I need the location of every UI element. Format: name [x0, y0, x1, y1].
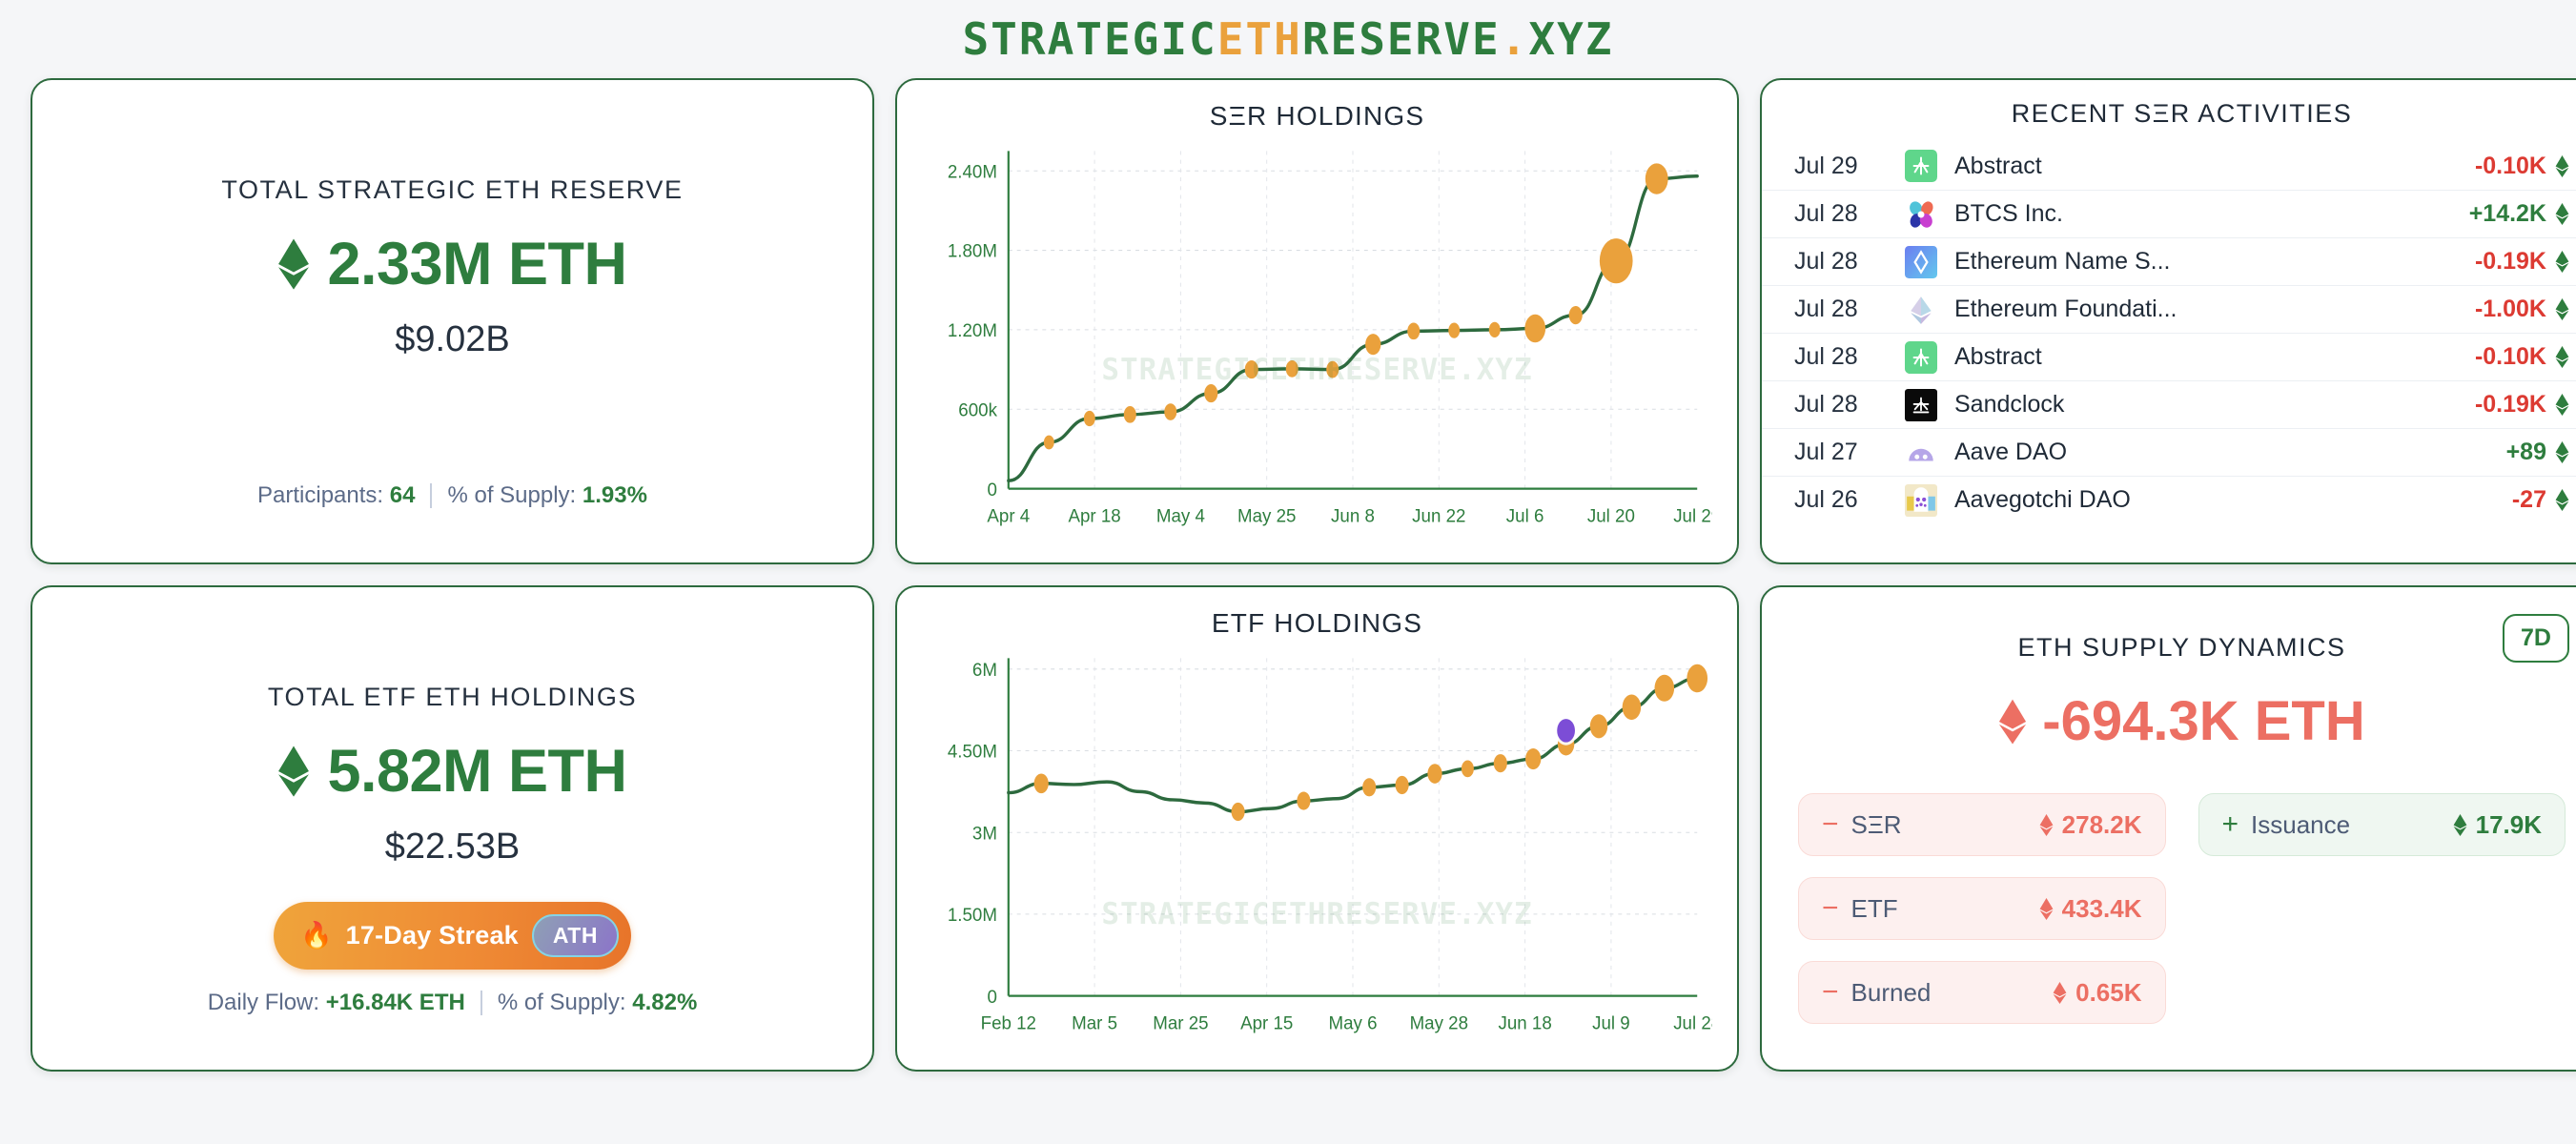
etf-value-row: 5.82M ETH: [277, 737, 626, 806]
svg-text:Apr 4: Apr 4: [987, 506, 1030, 526]
reserve-footer: Participants: 64 % of Supply: 1.93%: [32, 482, 872, 509]
recent-ser-activities-card: RECENT SΞR ACTIVITIES Jul 29Abstract-0.1…: [1760, 78, 2576, 564]
etf-chart-title: ETF HOLDINGS: [922, 608, 1712, 639]
svg-text:1.50M: 1.50M: [948, 906, 997, 926]
activity-row[interactable]: Jul 29Abstract-0.10K: [1762, 142, 2576, 190]
supply-chips: −SΞR278.2K+Issuance17.9K−ETF433.4K−Burne…: [1798, 793, 2566, 1024]
chip-placeholder: [2198, 961, 2566, 1024]
footer-divider: [480, 991, 482, 1015]
chip-value: 0.65K: [2053, 978, 2141, 1008]
activity-amount: -0.10K: [2475, 343, 2569, 371]
ethereum-foundation-icon: [1905, 294, 1937, 326]
activity-amount: +14.2K: [2469, 200, 2569, 228]
activity-entity-name: Abstract: [1954, 153, 2475, 180]
streak-wrapper: 🔥 17-Day Streak ATH: [32, 902, 872, 970]
activity-entity-name: BTCS Inc.: [1954, 200, 2469, 228]
aavegotchi-icon: [1905, 484, 1937, 517]
reserve-value-row: 2.33M ETH: [277, 230, 626, 298]
activity-date: Jul 29: [1794, 153, 1905, 180]
svg-text:Apr 18: Apr 18: [1068, 506, 1120, 526]
activity-amount: +89: [2506, 439, 2569, 466]
etf-holdings-plot[interactable]: 01.50M3M4.50M6MFeb 12Mar 5Mar 25Apr 15Ma…: [922, 643, 1712, 1052]
logo-xyz: XYZ: [1528, 13, 1613, 65]
reserve-eth-value: 2.33M ETH: [327, 230, 626, 298]
daily-flow-value: +16.84K ETH: [326, 990, 465, 1015]
svg-text:1.20M: 1.20M: [948, 321, 997, 341]
chip-label: −ETF: [1822, 892, 1898, 925]
activity-date: Jul 27: [1794, 439, 1905, 466]
etf-footer: Daily Flow: +16.84K ETH % of Supply: 4.8…: [32, 990, 872, 1016]
svg-text:600k: 600k: [958, 400, 997, 420]
activity-entity-name: Ethereum Foundati...: [1954, 296, 2475, 323]
activity-amount: -27: [2512, 486, 2569, 514]
abstract-icon: [1905, 150, 1937, 182]
activity-row[interactable]: Jul 26Aavegotchi DAO-27: [1762, 476, 2576, 523]
activity-row[interactable]: Jul 28BTCS Inc.+14.2K: [1762, 190, 2576, 237]
activity-entity-name: Abstract: [1954, 343, 2475, 371]
activity-amount: -0.10K: [2475, 153, 2569, 180]
activity-row[interactable]: Jul 28Abstract-0.10K: [1762, 333, 2576, 380]
total-etf-eth-holdings-card: TOTAL ETF ETH HOLDINGS 5.82M ETH $22.53B…: [31, 585, 874, 1072]
activity-row[interactable]: Jul 28Ethereum Name S...-0.19K: [1762, 237, 2576, 285]
etf-card-title: TOTAL ETF ETH HOLDINGS: [268, 683, 637, 712]
logo-eth: ETH: [1217, 13, 1302, 65]
chip-sign-icon: −: [1822, 976, 1839, 1009]
svg-text:6M: 6M: [972, 661, 997, 681]
site-header: STRATEGICETHRESERVE.XYZ: [0, 0, 2576, 78]
svg-text:Jul 20: Jul 20: [1587, 506, 1635, 526]
etf-supply-label: % of Supply:: [498, 990, 626, 1015]
reserve-supply-value: 1.93%: [583, 482, 647, 508]
activity-entity-name: Sandclock: [1954, 391, 2475, 419]
svg-text:4.50M: 4.50M: [948, 742, 997, 762]
ser-holdings-chart-card: SΞR HOLDINGS 0600k1.20M1.80M2.40MApr 4Ap…: [895, 78, 1739, 564]
etf-supply-value: 4.82%: [632, 990, 697, 1015]
reserve-supply-label: % of Supply:: [447, 482, 576, 508]
reserve-card-title: TOTAL STRATEGIC ETH RESERVE: [221, 175, 683, 205]
svg-text:Jun 22: Jun 22: [1412, 506, 1465, 526]
chip-value: 433.4K: [2039, 894, 2142, 924]
svg-text:2.40M: 2.40M: [948, 162, 997, 182]
activity-date: Jul 28: [1794, 343, 1905, 371]
etf-usd-value: $22.53B: [385, 827, 521, 868]
svg-text:0: 0: [988, 987, 997, 1007]
activities-title: RECENT SΞR ACTIVITIES: [1762, 99, 2576, 129]
ens-icon: [1905, 246, 1937, 278]
activity-amount: -1.00K: [2475, 296, 2569, 323]
activity-row[interactable]: Jul 28Ethereum Foundati...-1.00K: [1762, 285, 2576, 333]
net-supply-row: -694.3K ETH: [1798, 689, 2566, 753]
supply-chip-sr[interactable]: −SΞR278.2K: [1798, 793, 2166, 856]
daily-flow-stat: Daily Flow: +16.84K ETH: [208, 990, 465, 1016]
activity-amount: -0.19K: [2475, 248, 2569, 276]
ethereum-diamond-icon: [277, 238, 310, 290]
svg-text:Jul 28: Jul 28: [1673, 1013, 1712, 1033]
activity-entity-name: Ethereum Name S...: [1954, 248, 2475, 276]
svg-text:3M: 3M: [972, 824, 997, 844]
activity-date: Jul 28: [1794, 296, 1905, 323]
svg-text:May 4: May 4: [1156, 506, 1205, 526]
svg-text:May 28: May 28: [1410, 1013, 1468, 1033]
ath-badge: ATH: [532, 914, 619, 957]
svg-text:1.80M: 1.80M: [948, 241, 997, 261]
footer-divider: [430, 483, 432, 508]
activity-date: Jul 28: [1794, 391, 1905, 419]
svg-text:Jun 18: Jun 18: [1498, 1013, 1551, 1033]
chip-value: 278.2K: [2039, 810, 2142, 840]
logo-reserve: RESERVE: [1302, 13, 1501, 65]
sandclock-icon: [1905, 389, 1937, 421]
activity-entity-name: Aave DAO: [1954, 439, 2506, 466]
flame-icon: 🔥: [300, 923, 333, 949]
aave-icon: [1905, 437, 1937, 469]
chip-label: −Burned: [1822, 976, 1931, 1009]
activity-date: Jul 26: [1794, 486, 1905, 514]
total-strategic-eth-reserve-card: TOTAL STRATEGIC ETH RESERVE 2.33M ETH $9…: [31, 78, 874, 564]
etf-supply-stat: % of Supply: 4.82%: [498, 990, 697, 1016]
ser-holdings-plot[interactable]: 0600k1.20M1.80M2.40MApr 4Apr 18May 4May …: [922, 135, 1712, 545]
activity-row[interactable]: Jul 27Aave DAO+89: [1762, 428, 2576, 476]
eth-supply-dynamics-card: 7D ETH SUPPLY DYNAMICS -694.3K ETH −SΞR2…: [1760, 585, 2576, 1072]
svg-text:Apr 15: Apr 15: [1240, 1013, 1293, 1033]
svg-text:May 6: May 6: [1328, 1013, 1377, 1033]
etf-eth-value: 5.82M ETH: [327, 737, 626, 806]
chip-value: 17.9K: [2453, 810, 2542, 840]
activity-date: Jul 28: [1794, 200, 1905, 228]
svg-text:May 25: May 25: [1237, 506, 1296, 526]
ser-chart-area[interactable]: 0600k1.20M1.80M2.40MApr 4Apr 18May 4May …: [922, 135, 1712, 545]
abstract-icon: [1905, 341, 1937, 374]
supply-dynamics-title: ETH SUPPLY DYNAMICS: [1798, 633, 2566, 663]
chip-sign-icon: −: [1822, 808, 1839, 841]
ethereum-diamond-icon: [277, 746, 310, 797]
activity-amount: -0.19K: [2475, 391, 2569, 419]
range-7d-button[interactable]: 7D: [2503, 614, 2569, 663]
participants-value: 64: [390, 482, 416, 508]
supply-chip-issuance[interactable]: +Issuance17.9K: [2198, 793, 2566, 856]
svg-text:Feb 12: Feb 12: [981, 1013, 1036, 1033]
reserve-supply-stat: % of Supply: 1.93%: [447, 482, 646, 509]
btcs-icon: [1905, 198, 1937, 231]
chip-label: +Issuance: [2222, 808, 2351, 841]
svg-text:Mar 25: Mar 25: [1153, 1013, 1208, 1033]
streak-label: 17-Day Streak: [346, 921, 519, 950]
daily-flow-label: Daily Flow:: [208, 990, 319, 1015]
supply-chip-burned[interactable]: −Burned0.65K: [1798, 961, 2166, 1024]
svg-text:0: 0: [988, 480, 997, 500]
participants-stat: Participants: 64: [257, 482, 415, 509]
chip-placeholder: [2198, 877, 2566, 940]
activity-row[interactable]: Jul 28Sandclock-0.19K: [1762, 380, 2576, 428]
participants-label: Participants:: [257, 482, 383, 508]
logo-dot: .: [1501, 13, 1529, 65]
activity-entity-name: Aavegotchi DAO: [1954, 486, 2512, 514]
etf-holdings-chart-card: ETF HOLDINGS 01.50M3M4.50M6MFeb 12Mar 5M…: [895, 585, 1739, 1072]
logo-strategic: STRATEGIC: [962, 13, 1216, 65]
activities-list: Jul 29Abstract-0.10KJul 28BTCS Inc.+14.2…: [1762, 142, 2576, 523]
svg-text:Jul 6: Jul 6: [1506, 506, 1544, 526]
svg-text:Jul 29: Jul 29: [1673, 506, 1712, 526]
svg-text:Jul 9: Jul 9: [1592, 1013, 1630, 1033]
svg-text:Mar 5: Mar 5: [1072, 1013, 1117, 1033]
dashboard-grid: TOTAL STRATEGIC ETH RESERVE 2.33M ETH $9…: [0, 78, 2576, 1072]
chip-sign-icon: −: [1822, 892, 1839, 925]
etf-chart-area[interactable]: 01.50M3M4.50M6MFeb 12Mar 5Mar 25Apr 15Ma…: [922, 643, 1712, 1052]
reserve-usd-value: $9.02B: [395, 319, 509, 360]
chip-label: −SΞR: [1822, 808, 1902, 841]
net-supply-value: -694.3K ETH: [2042, 689, 2364, 753]
ser-chart-title: SΞR HOLDINGS: [922, 101, 1712, 132]
streak-badge[interactable]: 🔥 17-Day Streak ATH: [274, 902, 631, 970]
site-logo[interactable]: STRATEGICETHRESERVE.XYZ: [962, 13, 1613, 65]
activity-date: Jul 28: [1794, 248, 1905, 276]
svg-text:Jun 8: Jun 8: [1331, 506, 1375, 526]
chip-sign-icon: +: [2222, 808, 2239, 841]
ethereum-diamond-icon: [1998, 698, 2027, 746]
supply-chip-etf[interactable]: −ETF433.4K: [1798, 877, 2166, 940]
